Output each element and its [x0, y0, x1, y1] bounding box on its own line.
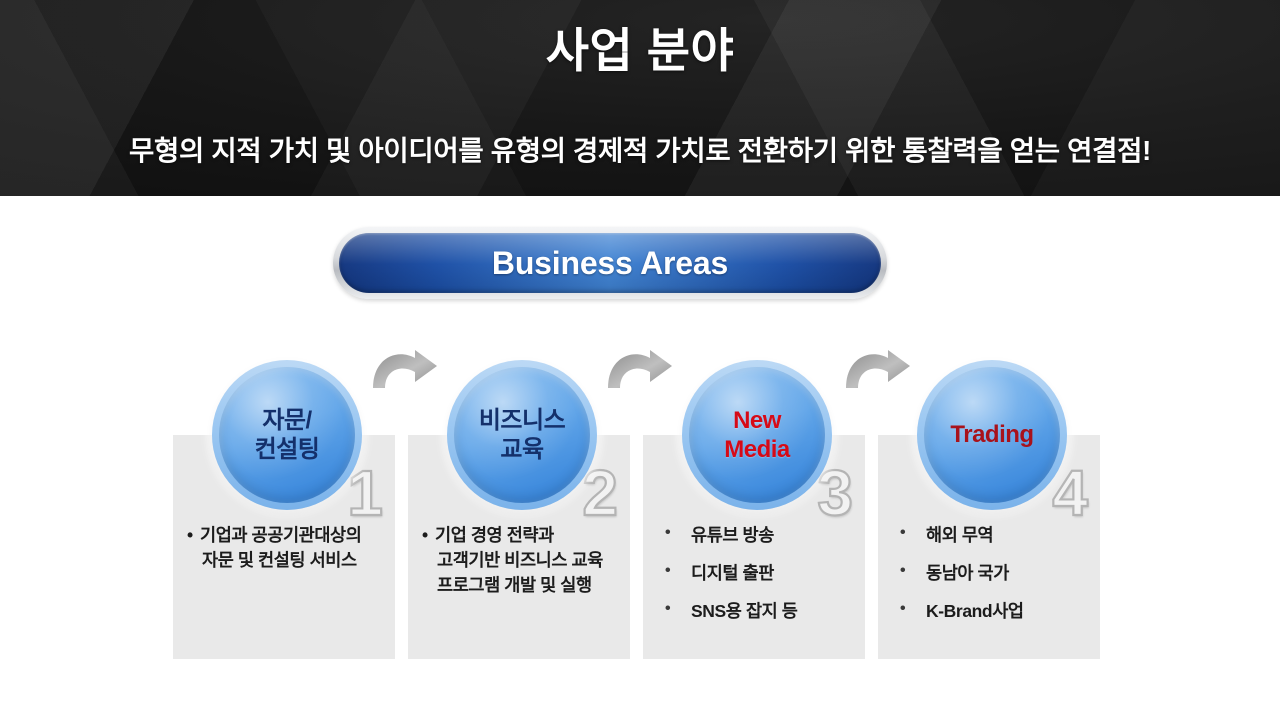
business-areas-label: Business Areas — [492, 245, 728, 282]
circle-inner: 자문/ 컨설팅 — [219, 367, 355, 503]
circle-inner: 비즈니스 교육 — [454, 367, 590, 503]
list-item-line: 고객기반 비즈니스 교육 — [437, 548, 616, 573]
curved-arrow-icon — [840, 342, 918, 394]
circle-label: 비즈니스 교육 — [473, 406, 571, 465]
list-item: K-Brand사업 — [892, 599, 1086, 624]
circle-label-line: Trading — [950, 420, 1033, 449]
list-item-line: 기업과 공공기관대상의 — [200, 523, 381, 548]
circle-label-line: 교육 — [479, 435, 565, 464]
card-body: 해외 무역 동남아 국가 K-Brand사업 — [878, 523, 1100, 637]
circle-label: New Media — [718, 406, 796, 465]
page-subtitle: 무형의 지적 가치 및 아이디어를 유형의 경제적 가치로 전환하기 위한 통찰… — [0, 128, 1280, 168]
circle-label-line: 컨설팅 — [255, 435, 320, 464]
list-item-line: 기업 경영 전략과 — [435, 523, 616, 548]
business-area-circle-1[interactable]: 자문/ 컨설팅 — [212, 360, 362, 510]
card-bullet-list: 기업과 공공기관대상의 자문 및 컨설팅 서비스 — [187, 523, 381, 573]
list-item: 디지털 출판 — [657, 561, 851, 586]
list-item: 유튜브 방송 — [657, 523, 851, 548]
business-area-circle-2[interactable]: 비즈니스 교육 — [447, 360, 597, 510]
circle-label-line: New — [724, 406, 790, 435]
business-areas-banner: Business Areas — [333, 227, 887, 299]
list-item: SNS용 잡지 등 — [657, 599, 851, 624]
circle-label: Trading — [944, 420, 1039, 449]
curved-arrow-icon — [367, 342, 445, 394]
circle-inner: Trading — [924, 367, 1060, 503]
circle-label-line: Media — [724, 435, 790, 464]
circle-label-line: 자문/ — [255, 406, 320, 435]
list-item-line: 프로그램 개발 및 실행 — [437, 573, 616, 598]
card-body: 유튜브 방송 디지털 출판 SNS용 잡지 등 — [643, 523, 865, 637]
circle-label: 자문/ 컨설팅 — [249, 406, 326, 465]
list-item: 기업 경영 전략과 고객기반 비즈니스 교육 프로그램 개발 및 실행 — [422, 523, 616, 598]
card-bullet-list: 유튜브 방송 디지털 출판 SNS용 잡지 등 — [657, 523, 851, 624]
curved-arrow-icon — [602, 342, 680, 394]
list-item: 기업과 공공기관대상의 자문 및 컨설팅 서비스 — [187, 523, 381, 573]
circle-label-line: 비즈니스 — [479, 406, 565, 435]
business-area-circle-3[interactable]: New Media — [682, 360, 832, 510]
list-item-line: 자문 및 컨설팅 서비스 — [202, 548, 381, 573]
card-body: 기업 경영 전략과 고객기반 비즈니스 교육 프로그램 개발 및 실행 — [408, 523, 630, 598]
card-bullet-list: 기업 경영 전략과 고객기반 비즈니스 교육 프로그램 개발 및 실행 — [422, 523, 616, 598]
business-area-circle-4[interactable]: Trading — [917, 360, 1067, 510]
business-areas-banner-inner: Business Areas — [339, 233, 881, 293]
card-bullet-list: 해외 무역 동남아 국가 K-Brand사업 — [892, 523, 1086, 624]
circle-inner: New Media — [689, 367, 825, 503]
list-item: 동남아 국가 — [892, 561, 1086, 586]
slide-root: 사업 분야 무형의 지적 가치 및 아이디어를 유형의 경제적 가치로 전환하기… — [0, 0, 1280, 720]
list-item: 해외 무역 — [892, 523, 1086, 548]
page-title: 사업 분야 — [0, 24, 1280, 78]
card-body: 기업과 공공기관대상의 자문 및 컨설팅 서비스 — [173, 523, 395, 573]
